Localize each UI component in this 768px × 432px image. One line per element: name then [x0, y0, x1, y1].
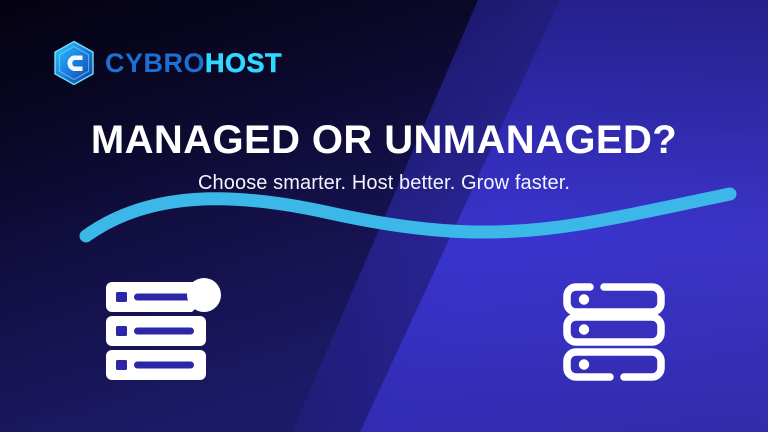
unmanaged-server-stack-outline-icon: [560, 280, 668, 384]
brand-name-part-1: CYBRO: [105, 48, 205, 78]
brand-name: CYBROHOST: [105, 50, 282, 77]
promo-banner: CYBROHOST MANAGED OR UNMANAGED? Choose s…: [0, 0, 768, 432]
hexagon-c-logo-icon: [52, 40, 96, 86]
brand-name-part-2: HOST: [205, 48, 282, 78]
brand-logo[interactable]: CYBROHOST: [52, 40, 282, 86]
hero-headline: MANAGED OR UNMANAGED?: [0, 118, 768, 163]
managed-server-stack-filled-icon: [104, 278, 224, 384]
hero-subheadline: Choose smarter. Host better. Grow faster…: [0, 172, 768, 195]
